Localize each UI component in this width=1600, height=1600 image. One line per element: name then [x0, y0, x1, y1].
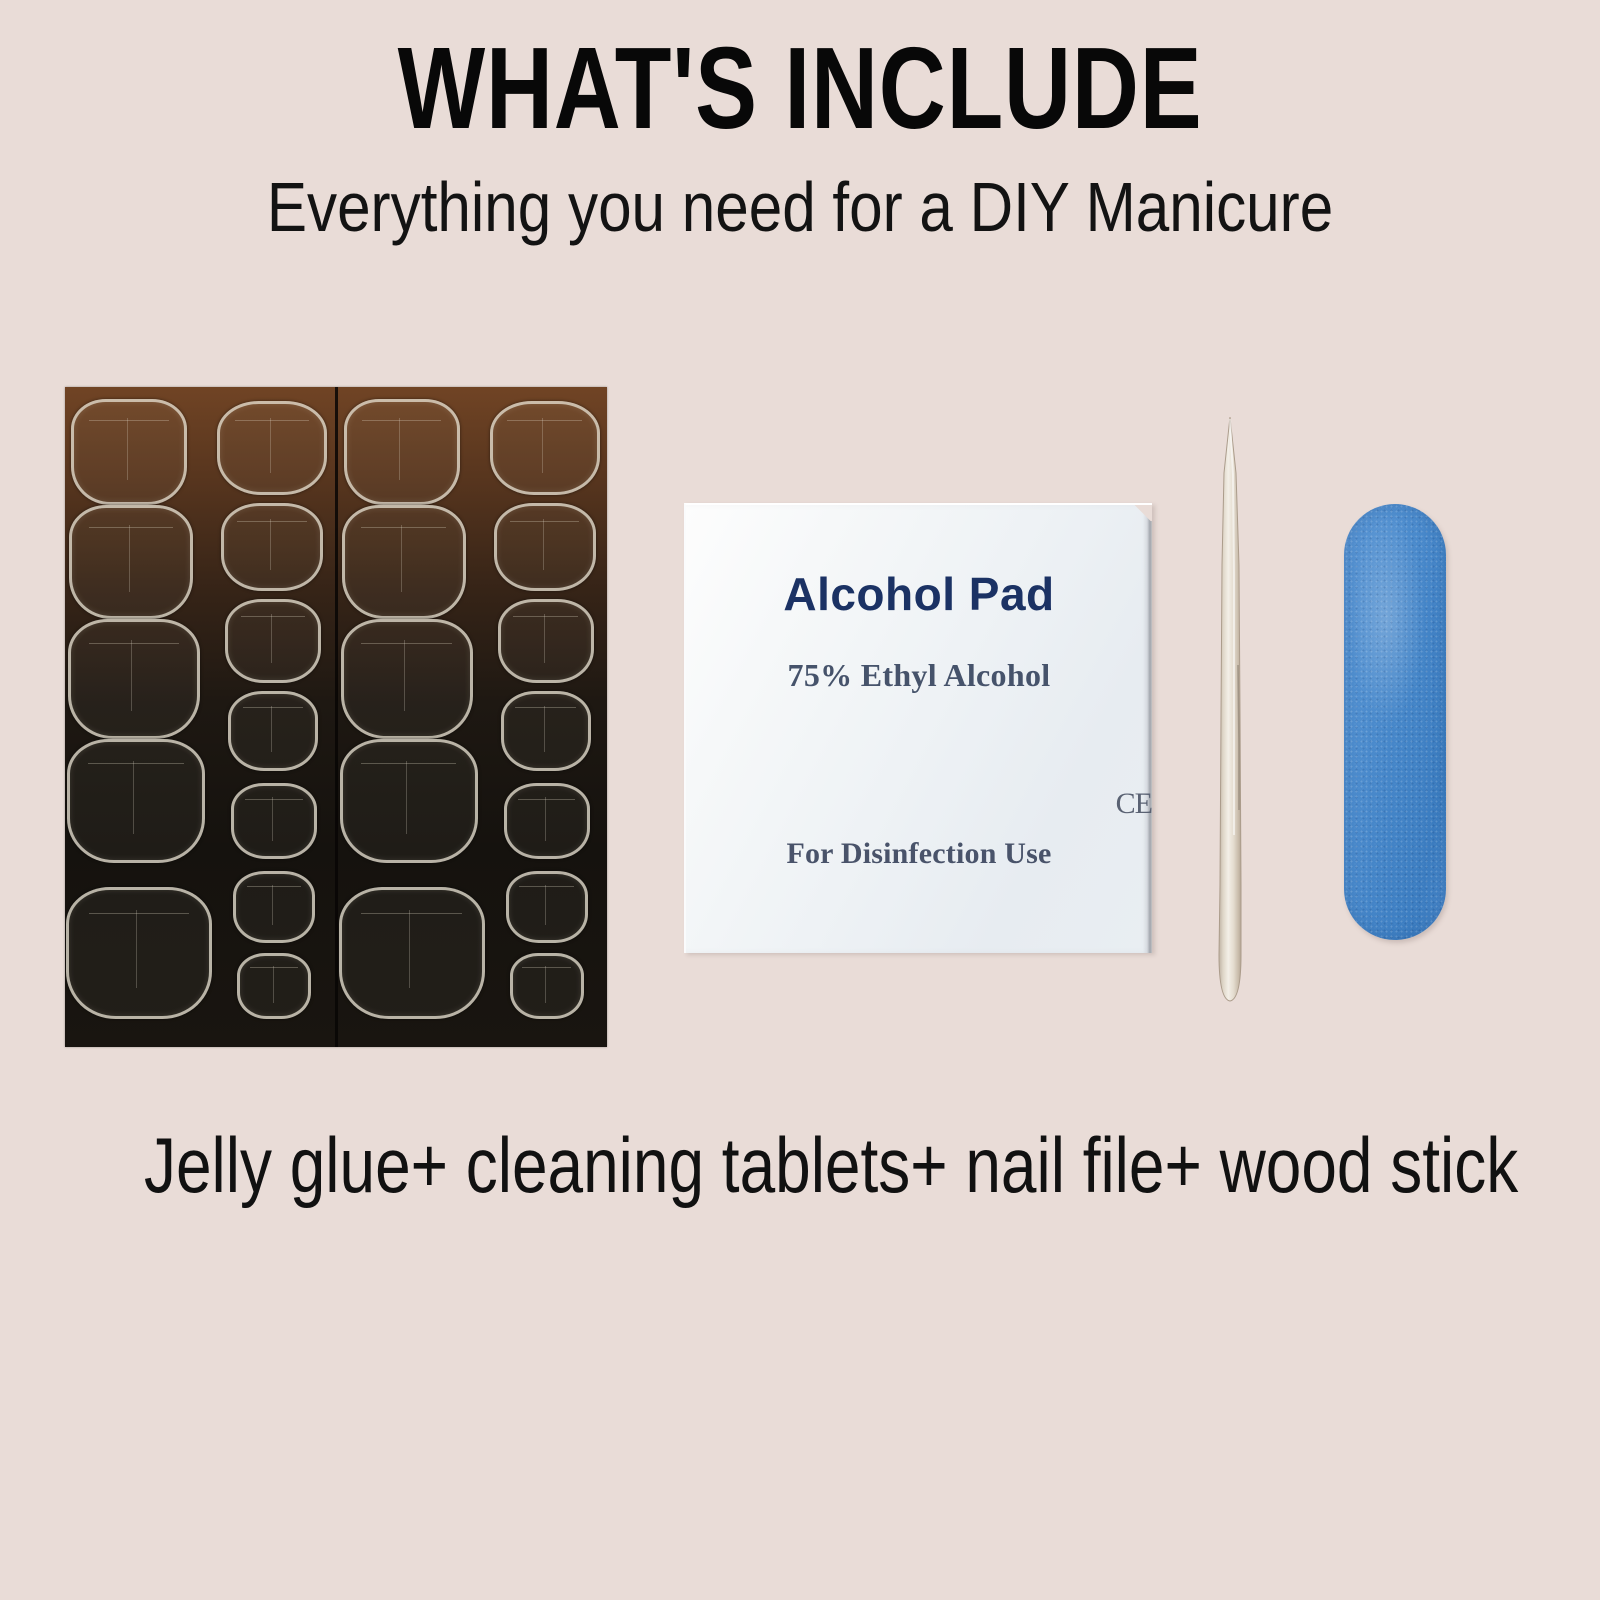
page-title: WHAT'S INCLUDE — [160, 30, 1440, 146]
glue-tab — [221, 503, 323, 591]
glue-tab — [217, 401, 327, 495]
glue-tab — [237, 953, 311, 1019]
glue-tab — [66, 887, 212, 1019]
jelly-glue-sheet — [65, 387, 607, 1047]
glue-tab — [67, 739, 205, 863]
nail-file-grit-texture — [1344, 504, 1446, 940]
alcohol-pad-footer: For Disinfection Use — [686, 837, 1152, 871]
contents-caption: Jelly glue+ cleaning tablets+ nail file+… — [144, 1126, 1456, 1204]
glue-tab — [233, 871, 315, 943]
alcohol-pad-title: Alcohol Pad — [686, 567, 1152, 621]
glue-tab — [344, 399, 460, 505]
glue-tab — [504, 783, 590, 859]
glue-tab — [71, 399, 187, 505]
sachet-corner-fold — [1132, 505, 1152, 521]
glue-panel-right — [335, 387, 608, 1047]
ce-mark-icon: CE — [686, 787, 1282, 821]
glue-tab — [498, 599, 594, 683]
glue-tab — [69, 505, 193, 619]
glue-tab — [506, 871, 588, 943]
glue-tab — [501, 691, 591, 771]
glue-tab — [494, 503, 596, 591]
page-subtitle: Everything you need for a DIY Manicure — [112, 172, 1488, 242]
wood-cuticle-stick — [1206, 415, 1254, 1003]
glue-tab — [342, 505, 466, 619]
glue-tab — [225, 599, 321, 683]
product-infographic: WHAT'S INCLUDE Everything you need for a… — [0, 0, 1600, 1600]
glue-tab — [339, 887, 485, 1019]
glue-tab — [341, 619, 473, 739]
glue-panel-left — [65, 387, 335, 1047]
glue-tab — [68, 619, 200, 739]
alcohol-pad-subtitle: 75% Ethyl Alcohol — [686, 657, 1152, 694]
glue-tab — [228, 691, 318, 771]
glue-tab — [340, 739, 478, 863]
alcohol-pad-sachet: Alcohol Pad 75% Ethyl Alcohol CE For Dis… — [684, 503, 1152, 953]
glue-tab — [510, 953, 584, 1019]
glue-tab — [490, 401, 600, 495]
nail-file-buffer — [1344, 504, 1446, 940]
glue-tab — [231, 783, 317, 859]
